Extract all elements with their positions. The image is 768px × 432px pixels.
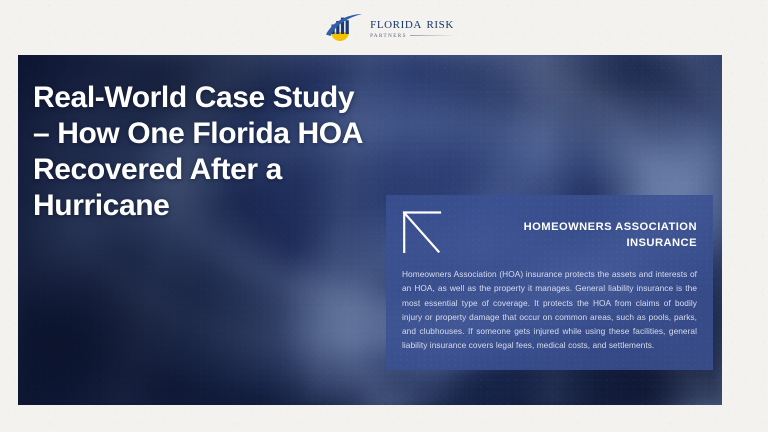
logo[interactable]: Florida Risk Partners: [322, 13, 454, 43]
logo-secondary-row: Partners: [370, 32, 454, 39]
brand-header: Florida Risk Partners: [0, 0, 768, 55]
arrow-up-left-corner-icon: [402, 211, 442, 253]
panel-title: HOMEOWNERS ASSOCIATION INSURANCE: [456, 211, 697, 251]
panel-body-text: Homeowners Association (HOA) insurance p…: [402, 267, 697, 353]
page-title: Real-World Case Study – How One Florida …: [33, 80, 373, 224]
panel-header: HOMEOWNERS ASSOCIATION INSURANCE: [402, 211, 697, 257]
florida-risk-partners-bar-chart-swoosh-logo-icon: [322, 13, 364, 43]
hoa-insurance-panel: HOMEOWNERS ASSOCIATION INSURANCE Homeown…: [386, 195, 713, 370]
logo-secondary-text: Partners: [370, 32, 407, 39]
logo-primary-text: Florida Risk: [370, 16, 454, 32]
logo-divider-rule: [410, 35, 454, 36]
hero-banner: Real-World Case Study – How One Florida …: [18, 55, 722, 405]
logo-wordmark: Florida Risk Partners: [370, 16, 454, 40]
